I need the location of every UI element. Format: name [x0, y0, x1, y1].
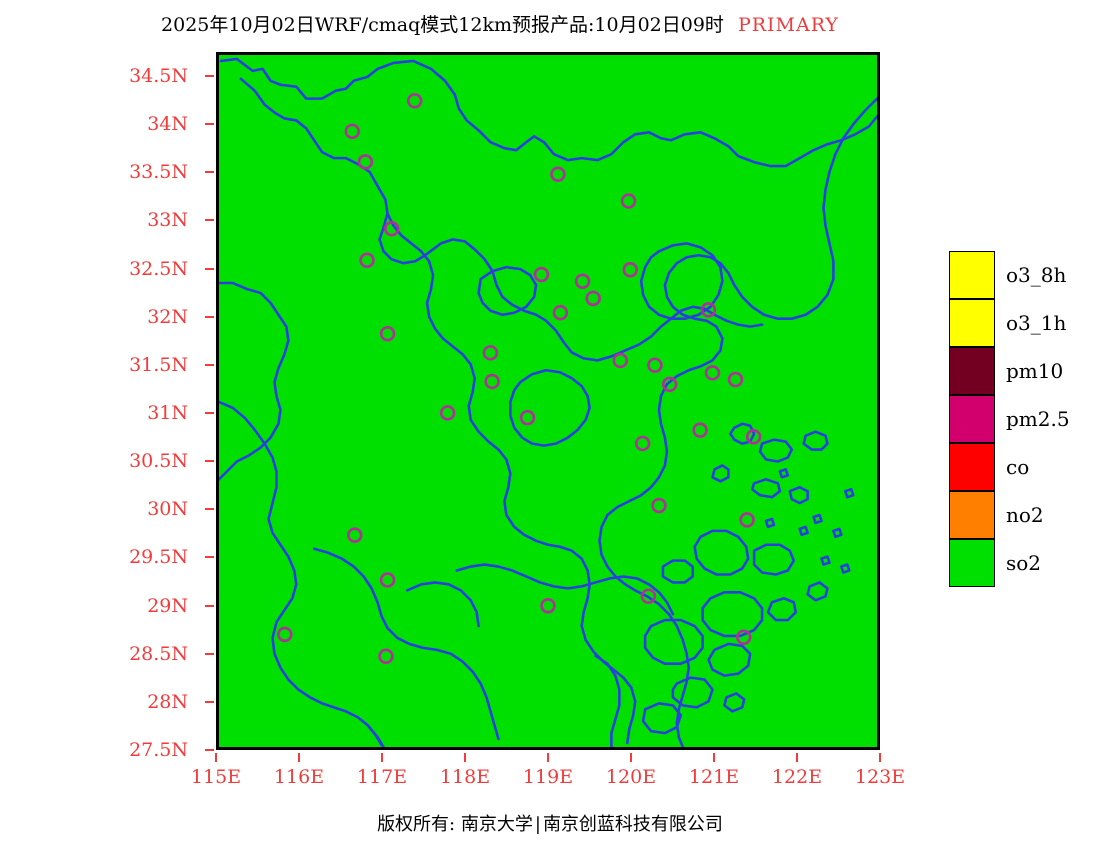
latitude-tick-mark: [205, 219, 214, 221]
legend-color-swatch: [949, 443, 995, 491]
legend-item[interactable]: co: [949, 443, 1070, 491]
legend-color-swatch: [949, 347, 995, 395]
latitude-tick-label: 31N: [147, 402, 188, 424]
latitude-tick-label: 33.5N: [129, 161, 188, 183]
longitude-tick-mark: [713, 753, 715, 762]
longitude-tick-mark: [630, 753, 632, 762]
legend-color-swatch: [949, 251, 995, 299]
longitude-tick-mark: [298, 753, 300, 762]
legend-item[interactable]: pm10: [949, 347, 1070, 395]
station-marker[interactable]: [361, 254, 374, 267]
title-main-text: 2025年10月02日WRF/cmaq模式12km预报产品:10月02日09时: [161, 14, 724, 36]
station-marker[interactable]: [636, 437, 649, 450]
station-marker[interactable]: [359, 155, 372, 168]
station-marker[interactable]: [663, 378, 676, 391]
legend-item[interactable]: o3_1h: [949, 299, 1070, 347]
legend-item-label: no2: [1006, 503, 1044, 527]
latitude-tick-mark: [205, 508, 214, 510]
station-marker[interactable]: [486, 375, 499, 388]
latitude-tick-label: 32N: [147, 306, 188, 328]
footer-right-text: 南京创蓝科技有限公司: [543, 814, 723, 835]
longitude-tick-label: 123E: [855, 766, 905, 788]
latitude-tick-mark: [205, 749, 214, 751]
longitude-tick-mark: [879, 753, 881, 762]
station-marker[interactable]: [521, 411, 534, 424]
longitude-tick-label: 118E: [440, 766, 490, 788]
longitude-tick-label: 121E: [689, 766, 739, 788]
legend-item-label: so2: [1006, 551, 1041, 575]
map-canvas: [219, 55, 877, 747]
latitude-tick-label: 34.5N: [129, 65, 188, 87]
latitude-tick-label: 30.5N: [129, 450, 188, 472]
station-marker[interactable]: [653, 499, 666, 512]
station-marker[interactable]: [278, 628, 291, 641]
legend-item-label: pm2.5: [1006, 407, 1070, 431]
title-primary-badge: PRIMARY: [738, 14, 839, 36]
station-markers: [278, 94, 760, 662]
legend-item-label: pm10: [1006, 359, 1063, 383]
longitude-axis: 115E116E117E118E119E120E121E122E123E: [216, 750, 880, 795]
latitude-tick-mark: [205, 75, 214, 77]
station-marker[interactable]: [381, 327, 394, 340]
station-marker[interactable]: [694, 424, 707, 437]
latitude-tick-mark: [205, 701, 214, 703]
latitude-tick-mark: [205, 268, 214, 270]
page-title: 2025年10月02日WRF/cmaq模式12km预报产品:10月02日09时P…: [0, 10, 1000, 37]
legend-item-label: o3_8h: [1006, 263, 1066, 287]
latitude-tick-mark: [205, 556, 214, 558]
station-marker[interactable]: [614, 354, 627, 367]
longitude-tick-mark: [381, 753, 383, 762]
longitude-tick-label: 122E: [772, 766, 822, 788]
latitude-tick-mark: [205, 364, 214, 366]
station-marker[interactable]: [706, 366, 719, 379]
station-marker[interactable]: [542, 599, 555, 612]
station-marker[interactable]: [380, 650, 393, 663]
longitude-tick-label: 115E: [191, 766, 241, 788]
latitude-tick-label: 32.5N: [129, 258, 188, 280]
longitude-tick-mark: [796, 753, 798, 762]
legend-color-swatch: [949, 395, 995, 443]
footer-left-text: 版权所有: 南京大学: [377, 814, 533, 835]
longitude-tick-mark: [547, 753, 549, 762]
longitude-tick-label: 120E: [606, 766, 656, 788]
legend-color-swatch: [949, 299, 995, 347]
latitude-tick-label: 27.5N: [129, 739, 188, 761]
latitude-tick-label: 31.5N: [129, 354, 188, 376]
station-marker[interactable]: [441, 406, 454, 419]
legend-color-swatch: [949, 539, 995, 587]
copyright-footer: 版权所有: 南京大学|南京创蓝科技有限公司: [0, 810, 1100, 836]
legend-item[interactable]: o3_8h: [949, 251, 1070, 299]
latitude-tick-mark: [205, 171, 214, 173]
legend-item[interactable]: so2: [949, 539, 1070, 587]
latitude-tick-mark: [205, 123, 214, 125]
station-marker[interactable]: [551, 168, 564, 181]
longitude-tick-label: 117E: [357, 766, 407, 788]
station-marker[interactable]: [484, 346, 497, 359]
legend-item-label: co: [1006, 455, 1029, 479]
pollutant-legend: o3_8ho3_1hpm10pm2.5cono2so2: [949, 251, 1070, 587]
station-marker[interactable]: [729, 373, 742, 386]
latitude-tick-mark: [205, 316, 214, 318]
latitude-axis: 34.5N34N33.5N33N32.5N32N31.5N31N30.5N30N…: [0, 52, 206, 750]
latitude-tick-label: 34N: [147, 113, 188, 135]
legend-item[interactable]: no2: [949, 491, 1070, 539]
forecast-map[interactable]: [216, 52, 880, 750]
latitude-tick-label: 33N: [147, 209, 188, 231]
station-marker[interactable]: [348, 529, 361, 542]
latitude-tick-mark: [205, 653, 214, 655]
latitude-tick-mark: [205, 460, 214, 462]
station-marker[interactable]: [622, 195, 635, 208]
station-marker[interactable]: [535, 268, 548, 281]
station-marker[interactable]: [741, 513, 754, 526]
latitude-tick-label: 28.5N: [129, 643, 188, 665]
station-marker[interactable]: [554, 306, 567, 319]
latitude-tick-mark: [205, 605, 214, 607]
latitude-tick-label: 30N: [147, 498, 188, 520]
station-marker[interactable]: [381, 574, 394, 587]
station-marker[interactable]: [408, 94, 421, 107]
station-marker[interactable]: [648, 359, 661, 372]
longitude-tick-label: 116E: [274, 766, 324, 788]
station-marker[interactable]: [587, 292, 600, 305]
station-marker[interactable]: [624, 263, 637, 276]
latitude-tick-mark: [205, 412, 214, 414]
latitude-tick-label: 29N: [147, 595, 188, 617]
latitude-tick-label: 28N: [147, 691, 188, 713]
longitude-tick-label: 119E: [523, 766, 573, 788]
station-marker[interactable]: [346, 125, 359, 138]
longitude-tick-mark: [464, 753, 466, 762]
latitude-tick-label: 29.5N: [129, 546, 188, 568]
legend-item-label: o3_1h: [1006, 311, 1066, 335]
station-marker[interactable]: [576, 275, 589, 288]
footer-separator: |: [535, 814, 541, 835]
longitude-tick-mark: [215, 753, 217, 762]
province-boundaries: [219, 59, 877, 747]
legend-color-swatch: [949, 491, 995, 539]
legend-item[interactable]: pm2.5: [949, 395, 1070, 443]
